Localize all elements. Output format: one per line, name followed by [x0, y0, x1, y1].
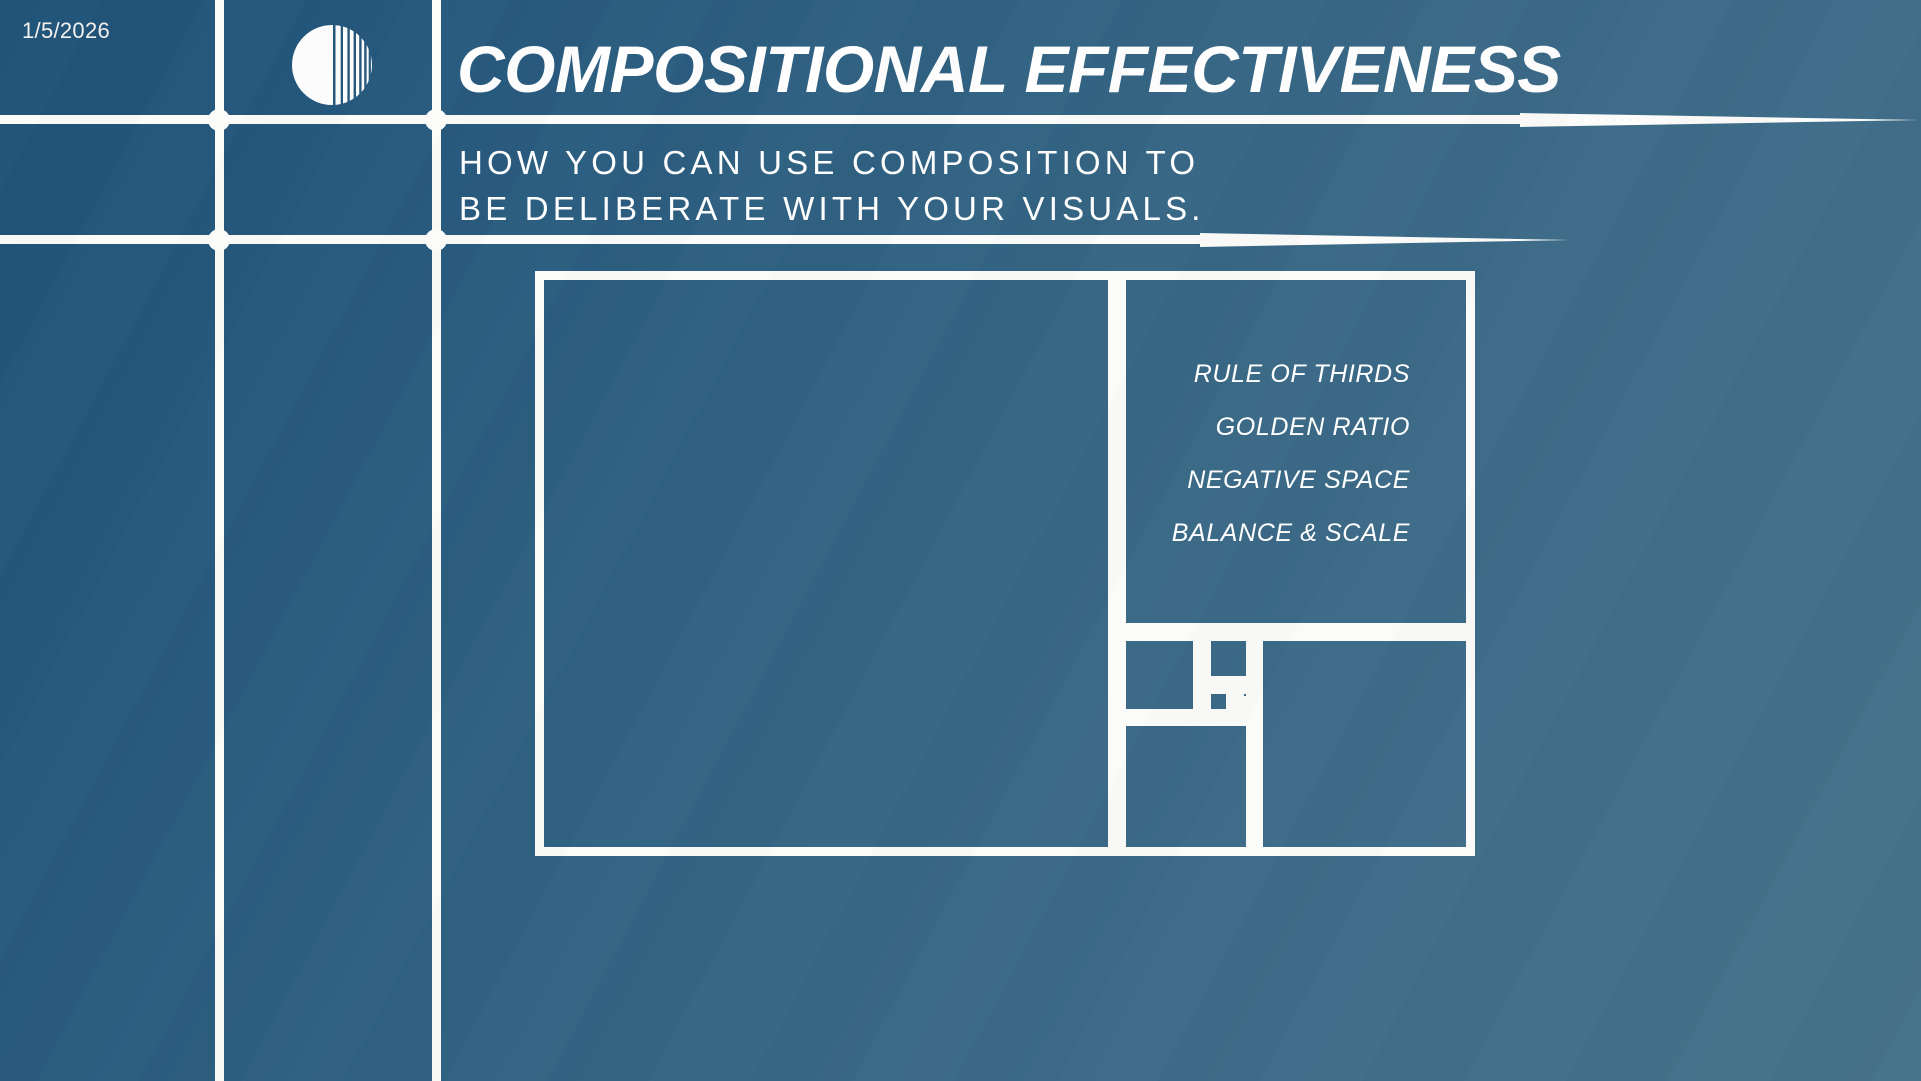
golden-square-octonary	[1235, 685, 1255, 705]
page-subtitle: How you can use composition to be delibe…	[459, 140, 1459, 231]
golden-square-quinary	[1117, 632, 1202, 718]
vertical-rule-left	[215, 0, 224, 1081]
grid-node-mid-left	[208, 229, 230, 251]
topic-item-negative-space[interactable]: NEGATIVE SPACE	[1120, 466, 1410, 495]
topic-item-golden-ratio[interactable]: GOLDEN RATIO	[1120, 413, 1410, 442]
subtitle-line-1: How you can use composition to	[459, 140, 1459, 186]
grid-node-mid-mid	[425, 229, 447, 251]
page-title: COMPOSITIONAL EFFECTIVENESS	[457, 36, 1877, 102]
vertical-rule-mid	[432, 0, 441, 1081]
grid-node-top-mid	[425, 109, 447, 131]
slide-canvas: 1/5/2026 COMPOSITIONAL EFFECTIVENESS	[0, 0, 1921, 1081]
golden-square-nonary	[1235, 705, 1255, 723]
horizontal-rule-mid-arrowhead	[1200, 233, 1570, 247]
topic-item-balance-and-scale[interactable]: BALANCE & SCALE	[1120, 519, 1410, 548]
topic-list: RULE OF THIRDS GOLDEN RATIO NEGATIVE SPA…	[1120, 360, 1410, 548]
golden-square-primary	[535, 271, 1117, 856]
golden-square-tertiary	[1254, 632, 1475, 856]
horizontal-rule-mid	[0, 235, 1200, 244]
golden-ratio-diagram	[535, 271, 1475, 856]
golden-square-septenary	[1202, 685, 1235, 718]
horizontal-rule-top-arrowhead	[1520, 113, 1920, 127]
half-striped-circle-logo	[291, 24, 373, 106]
golden-square-senary	[1202, 632, 1255, 685]
subtitle-line-2: be deliberate with your visuals.	[459, 186, 1459, 232]
golden-square-quaternary	[1117, 717, 1255, 856]
slide-date: 1/5/2026	[22, 18, 110, 44]
topic-item-rule-of-thirds[interactable]: RULE OF THIRDS	[1120, 360, 1410, 389]
grid-node-top-left	[208, 109, 230, 131]
